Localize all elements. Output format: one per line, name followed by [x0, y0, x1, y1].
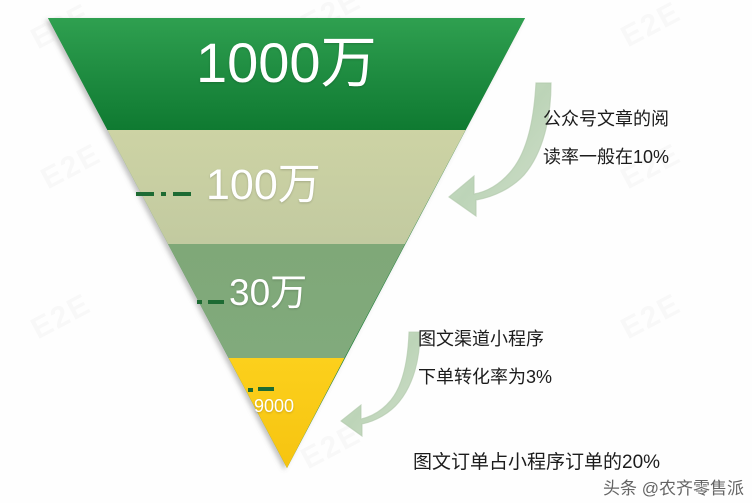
- leader-dot: [197, 300, 202, 304]
- callout-text-3: 图文订单占小程序订单的20%: [413, 450, 660, 476]
- callout-2-line-2: 下单转化率为3%: [418, 358, 552, 396]
- callout-1-line-1: 公众号文章的阅: [543, 100, 669, 138]
- leader-dash: [208, 300, 224, 304]
- leader-dot: [161, 192, 166, 196]
- callout-3-line-1: 图文订单占小程序订单的20%: [413, 450, 660, 476]
- funnel-tier-2-label: 100万: [206, 162, 321, 209]
- funnel-diagram-canvas: E2E E2E E2E E2E E2E E2E E2E E2E: [0, 0, 752, 503]
- funnel-tier-3-label: 30万: [229, 272, 307, 313]
- leader-dash: [258, 387, 274, 391]
- corner-watermark: 头条 @农齐零售派: [603, 474, 744, 499]
- leader-dash: [173, 192, 191, 196]
- callout-2-line-1: 图文渠道小程序: [418, 320, 552, 358]
- callout-text-1: 公众号文章的阅 读率一般在10%: [543, 100, 669, 176]
- funnel-tier-4-label: 9000: [254, 396, 294, 416]
- callout-text-2: 图文渠道小程序 下单转化率为3%: [418, 320, 552, 396]
- leader-dash: [136, 192, 154, 196]
- callout-1-line-2: 读率一般在10%: [543, 138, 669, 176]
- curved-arrow-down-left-icon: [341, 332, 420, 436]
- leader-dot: [248, 388, 253, 392]
- funnel-tier-1-label: 1000万: [196, 33, 377, 93]
